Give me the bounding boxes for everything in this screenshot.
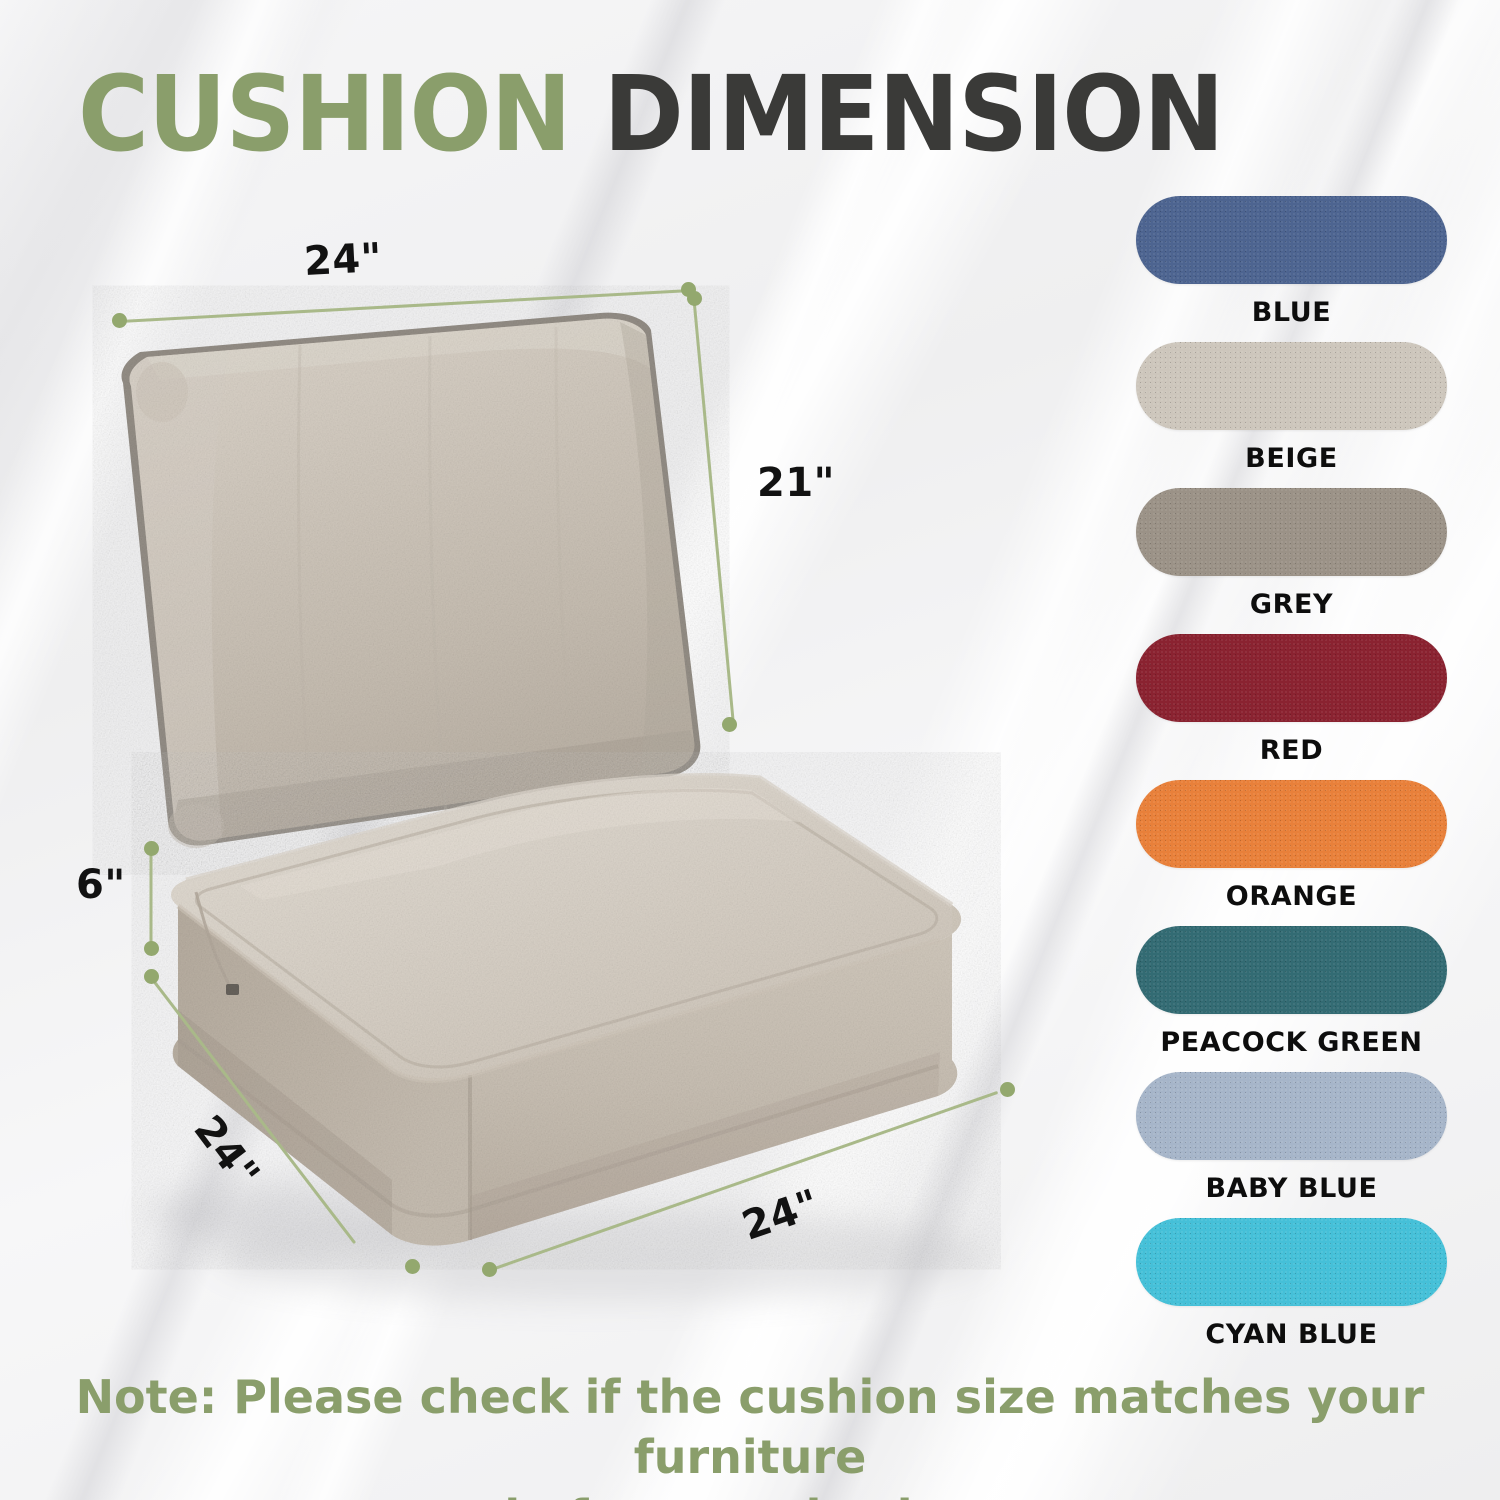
dimension-label-seat-thickness: 6" [76,862,126,908]
dimension-endpoint-dot [144,841,159,856]
dimension-endpoint-dot [1000,1082,1015,1097]
dimension-endpoint-dot [144,969,159,984]
swatch-label-grey: GREY [1120,589,1463,620]
note-line-2: before purchasing. [60,1488,1440,1500]
swatch-label-blue: BLUE [1120,297,1463,328]
swatch-label-baby-blue: BABY BLUE [1120,1173,1463,1204]
swatch-item-blue[interactable]: BLUE [1120,196,1470,328]
dimension-endpoint-dot [112,313,127,328]
swatch-color-blue[interactable] [1136,196,1447,284]
swatch-label-orange: ORANGE [1120,881,1463,912]
swatch-label-red: RED [1120,735,1463,766]
dimension-line-seat-thickness [150,850,153,950]
swatch-label-cyan-blue: CYAN BLUE [1120,1319,1463,1350]
dimension-endpoint-dot [687,291,702,306]
swatch-label-peacock-green: PEACOCK GREEN [1120,1027,1463,1058]
swatch-color-grey[interactable] [1136,488,1447,576]
swatch-item-peacock-green[interactable]: PEACOCK GREEN [1120,926,1470,1058]
color-swatch-list: BLUE BEIGE GREY RED ORANGE PEACOCK GREEN… [1120,196,1470,1364]
dimension-label-back-height: 21" [757,460,835,506]
swatch-label-beige: BEIGE [1120,443,1463,474]
swatch-color-peacock-green[interactable] [1136,926,1447,1014]
dimension-endpoint-dot [405,1259,420,1274]
dimension-endpoint-dot [722,717,737,732]
swatch-color-red[interactable] [1136,634,1447,722]
dimension-endpoint-dot [144,941,159,956]
swatch-color-cyan-blue[interactable] [1136,1218,1447,1306]
infographic-canvas: CUSHION DIMENSION [0,0,1500,1500]
swatch-item-orange[interactable]: ORANGE [1120,780,1470,912]
swatch-item-baby-blue[interactable]: BABY BLUE [1120,1072,1470,1204]
dimension-endpoint-dot [482,1262,497,1277]
swatch-color-orange[interactable] [1136,780,1447,868]
cushion-product-image [0,0,1100,1400]
swatch-item-cyan-blue[interactable]: CYAN BLUE [1120,1218,1470,1350]
purchase-note: Note: Please check if the cushion size m… [0,1368,1500,1500]
swatch-color-baby-blue[interactable] [1136,1072,1447,1160]
swatch-item-beige[interactable]: BEIGE [1120,342,1470,474]
note-line-1: Note: Please check if the cushion size m… [76,1370,1425,1484]
swatch-color-beige[interactable] [1136,342,1447,430]
swatch-item-grey[interactable]: GREY [1120,488,1470,620]
swatch-item-red[interactable]: RED [1120,634,1470,766]
dimension-label-top-width: 24" [303,235,383,285]
